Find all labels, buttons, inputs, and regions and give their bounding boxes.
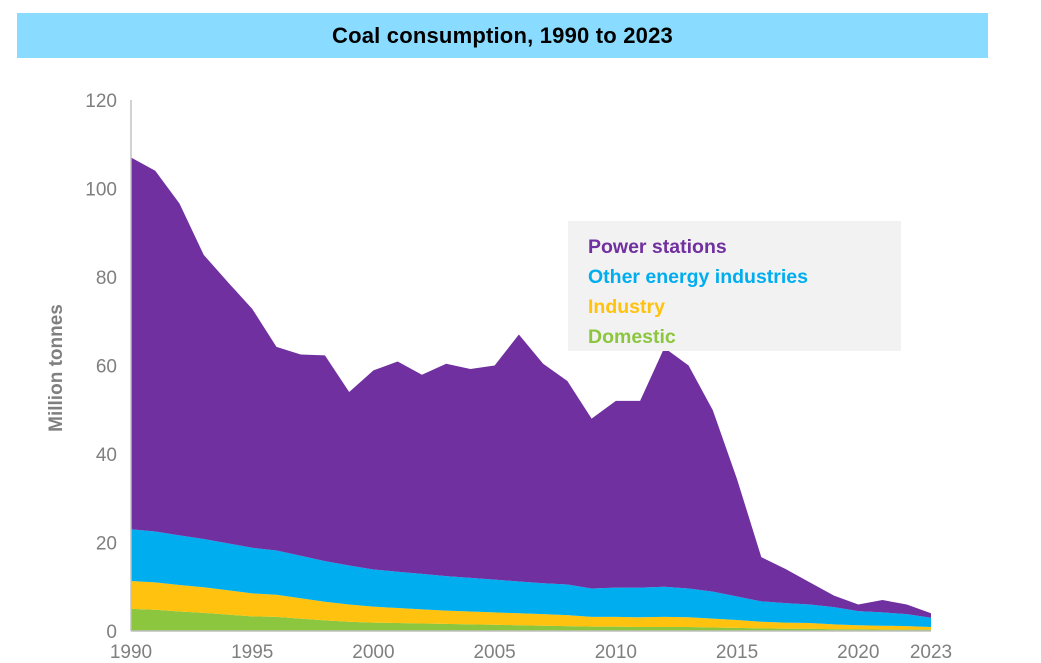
legend-item-power-stations[interactable]: Power stations bbox=[588, 236, 727, 258]
legend-item-industry[interactable]: Industry bbox=[588, 296, 665, 318]
stacked-area-chart: 020406080100120 199019952000200520102015… bbox=[0, 58, 1041, 663]
x-tick-label: 2005 bbox=[473, 642, 515, 663]
y-tick-label: 40 bbox=[96, 445, 117, 466]
y-axis-tick-labels: 020406080100120 bbox=[85, 91, 117, 643]
y-tick-label: 0 bbox=[106, 622, 117, 643]
y-tick-label: 60 bbox=[96, 357, 117, 378]
chart-legend: Power stationsOther energy industriesInd… bbox=[568, 221, 901, 351]
y-tick-label: 80 bbox=[96, 268, 117, 289]
x-tick-label: 2010 bbox=[595, 642, 637, 663]
x-tick-label: 2023 bbox=[910, 642, 952, 663]
title-bar: Coal consumption, 1990 to 2023 bbox=[17, 13, 988, 58]
legend-item-other-energy-industries[interactable]: Other energy industries bbox=[588, 266, 808, 288]
y-tick-label: 100 bbox=[85, 180, 117, 201]
x-tick-label: 2015 bbox=[716, 642, 758, 663]
legend-item-domestic[interactable]: Domestic bbox=[588, 326, 676, 348]
x-tick-label: 1990 bbox=[110, 642, 152, 663]
x-tick-label: 2000 bbox=[352, 642, 394, 663]
y-tick-label: 20 bbox=[96, 534, 117, 555]
x-tick-label: 2020 bbox=[837, 642, 879, 663]
y-tick-label: 120 bbox=[85, 91, 117, 112]
y-axis-title: Million tonnes bbox=[46, 304, 67, 432]
x-tick-label: 1995 bbox=[231, 642, 273, 663]
page-title: Coal consumption, 1990 to 2023 bbox=[332, 23, 673, 49]
x-axis-tick-labels: 19901995200020052010201520202023 bbox=[110, 642, 952, 663]
chart-container: 020406080100120 199019952000200520102015… bbox=[0, 58, 1041, 663]
